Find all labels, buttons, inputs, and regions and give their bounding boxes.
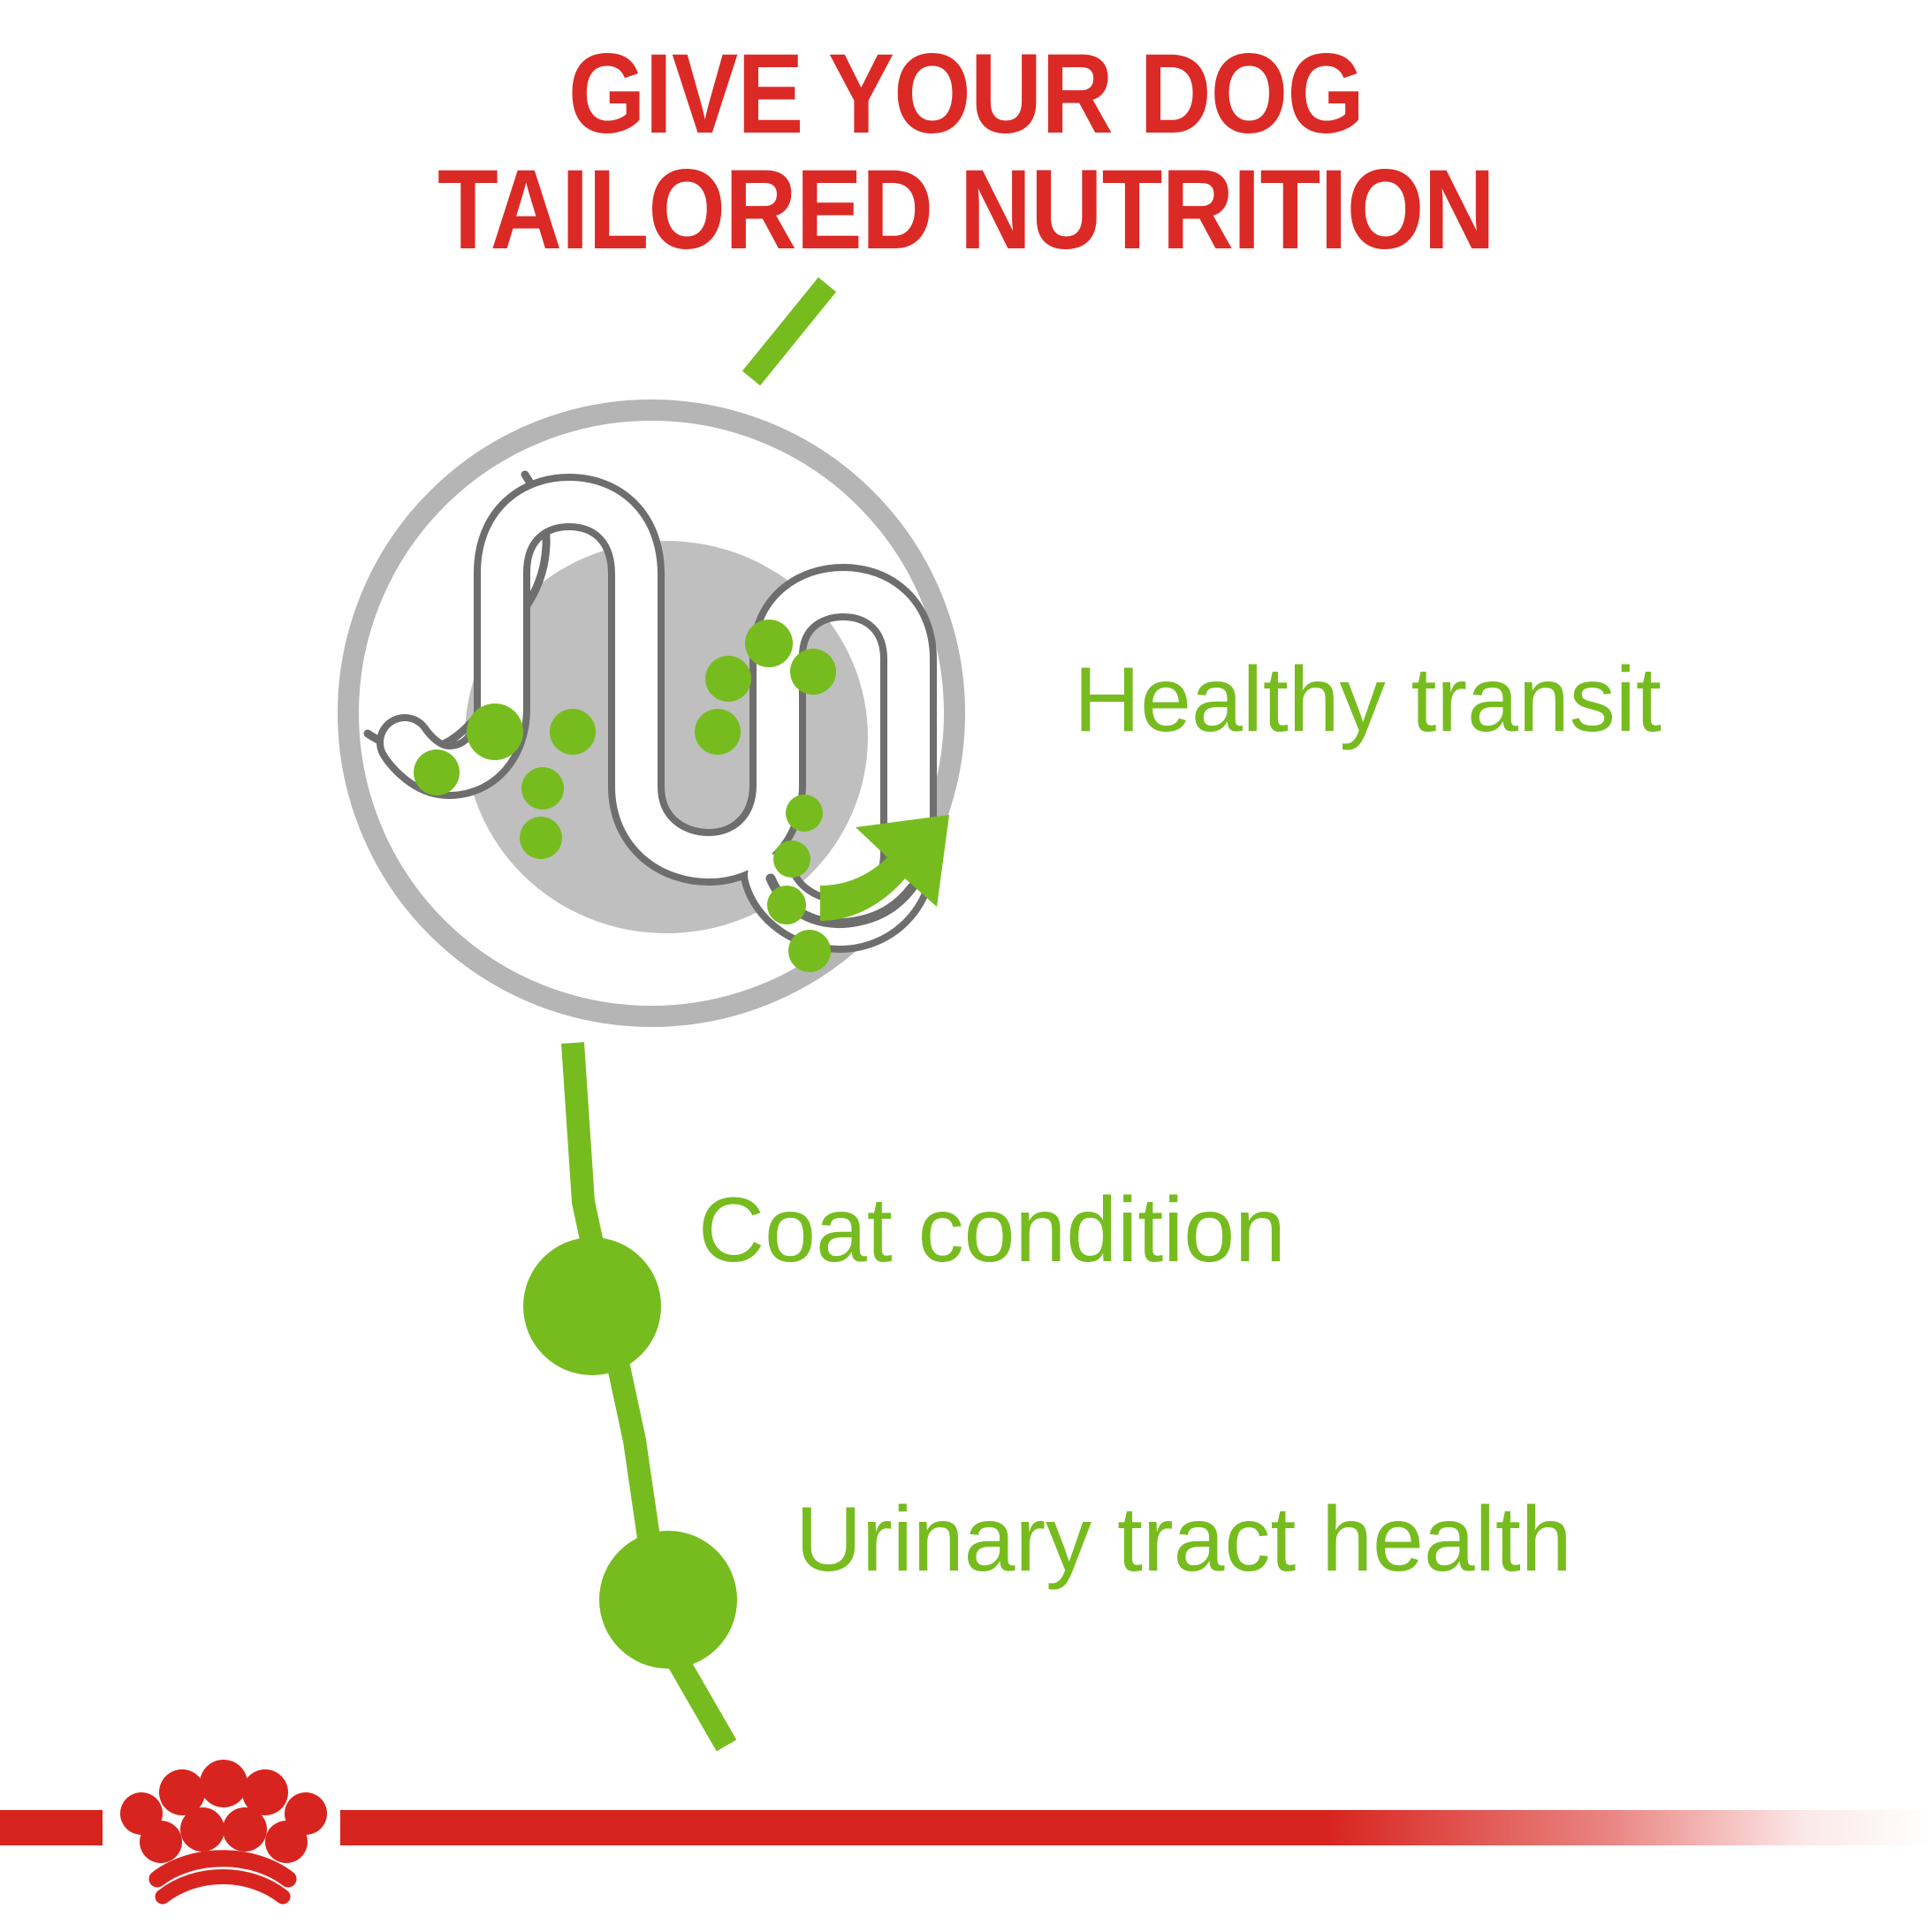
poster-canvas: GIVE YOUR DOG TAILORED NUTRITION bbox=[0, 0, 1932, 1932]
connector-dot-urinary bbox=[599, 1531, 737, 1669]
benefit-label-urinary-tract-health: Urinary tract health bbox=[795, 1494, 1572, 1586]
page-title: GIVE YOUR DOG TAILORED NUTRITION bbox=[116, 37, 1816, 268]
benefit-label-healthy-transit: Healthy transit bbox=[1074, 654, 1662, 746]
footer-rule-left bbox=[0, 1810, 103, 1845]
benefit-label-coat-condition: Coat condition bbox=[698, 1184, 1286, 1276]
benefit-connector-line bbox=[495, 1016, 866, 1794]
connector-dot-coat bbox=[523, 1237, 661, 1375]
footer-rule-right bbox=[340, 1810, 1932, 1845]
digestive-tract-icon bbox=[329, 391, 974, 1036]
royal-canin-crown-icon bbox=[99, 1738, 346, 1905]
